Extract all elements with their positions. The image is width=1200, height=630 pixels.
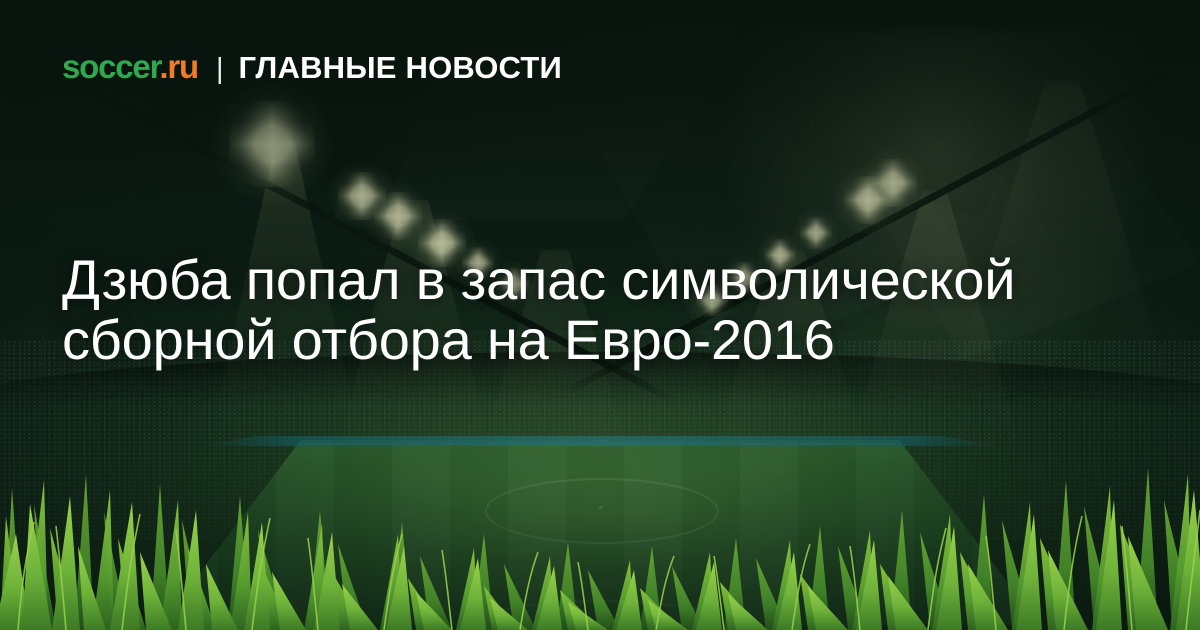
headline-line-2: сборной отбора на Евро-2016 bbox=[62, 310, 1142, 370]
logo-accent-text: .ru bbox=[159, 48, 198, 85]
header-divider: | bbox=[216, 55, 224, 84]
article-headline: Дзюба попал в запас символической сборно… bbox=[62, 250, 1142, 370]
card-header: soccer.ru | ГЛАВНЫЕ НОВОСТИ bbox=[62, 50, 562, 84]
foreground-grass bbox=[0, 460, 1200, 630]
logo-primary-text: soccer bbox=[62, 48, 159, 85]
headline-line-1: Дзюба попал в запас символической bbox=[62, 250, 1142, 310]
section-label: ГЛАВНЫЕ НОВОСТИ bbox=[239, 52, 562, 83]
site-logo[interactable]: soccer.ru bbox=[62, 50, 198, 83]
social-share-card: soccer.ru | ГЛАВНЫЕ НОВОСТИ Дзюба попал … bbox=[0, 0, 1200, 630]
